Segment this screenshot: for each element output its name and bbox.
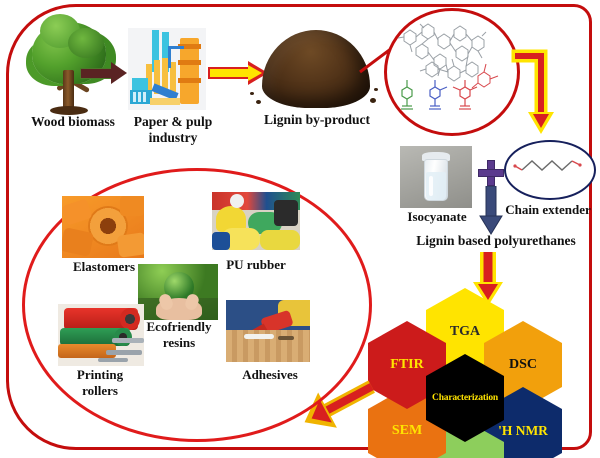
- printing-rollers-photo: [58, 304, 144, 366]
- pu-rubber-label: PU rubber: [208, 258, 304, 272]
- hex-sem-label: SEM: [392, 423, 422, 439]
- colored-rubber-photo: [212, 192, 300, 250]
- isocyanate-label: Isocyanate: [392, 210, 482, 224]
- factory-icon: [128, 28, 206, 110]
- powder-pile-icon: [262, 30, 370, 108]
- arrow-factory-to-lignin: [208, 62, 270, 84]
- hex-hnmr-label: 'H NMR: [498, 423, 548, 439]
- arrow-tree-to-factory: [80, 62, 128, 84]
- plus-sign: [478, 160, 504, 186]
- graphical-abstract: Wood biomass Paper & pulp industry: [0, 0, 600, 458]
- printing-rollers-label-line1: Printing: [50, 368, 150, 382]
- diol-molecule-icon: [512, 154, 584, 182]
- reaction-arrow: [478, 186, 504, 236]
- chain-extender-label: Chain extender: [496, 203, 600, 217]
- hex-tga-label: TGA: [450, 324, 480, 340]
- powder-speck: [250, 92, 254, 95]
- powder-speck: [256, 100, 261, 104]
- paper-pulp-label-line2: industry: [118, 131, 228, 146]
- lignin-molecular-structure: [390, 14, 508, 124]
- hex-dsc-label: DSC: [509, 357, 537, 373]
- adhesives-label: Adhesives: [222, 368, 318, 382]
- paper-pulp-label-line1: Paper & pulp: [118, 115, 228, 130]
- hex-center-label: Characterization: [432, 393, 498, 403]
- product-label: Lignin based polyurethanes: [398, 234, 594, 249]
- vial-icon: [400, 146, 472, 208]
- hex-ftir-label: FTIR: [390, 357, 423, 373]
- hand-holding-globe-photo: [138, 264, 218, 320]
- glue-gun-photo: [226, 300, 310, 362]
- hook-arrow-to-synthesis: [508, 44, 562, 144]
- printing-rollers-label-line2: rollers: [50, 384, 150, 398]
- lignin-byproduct-label: Lignin by-product: [252, 113, 382, 128]
- orange-rolls-photo: [62, 196, 144, 258]
